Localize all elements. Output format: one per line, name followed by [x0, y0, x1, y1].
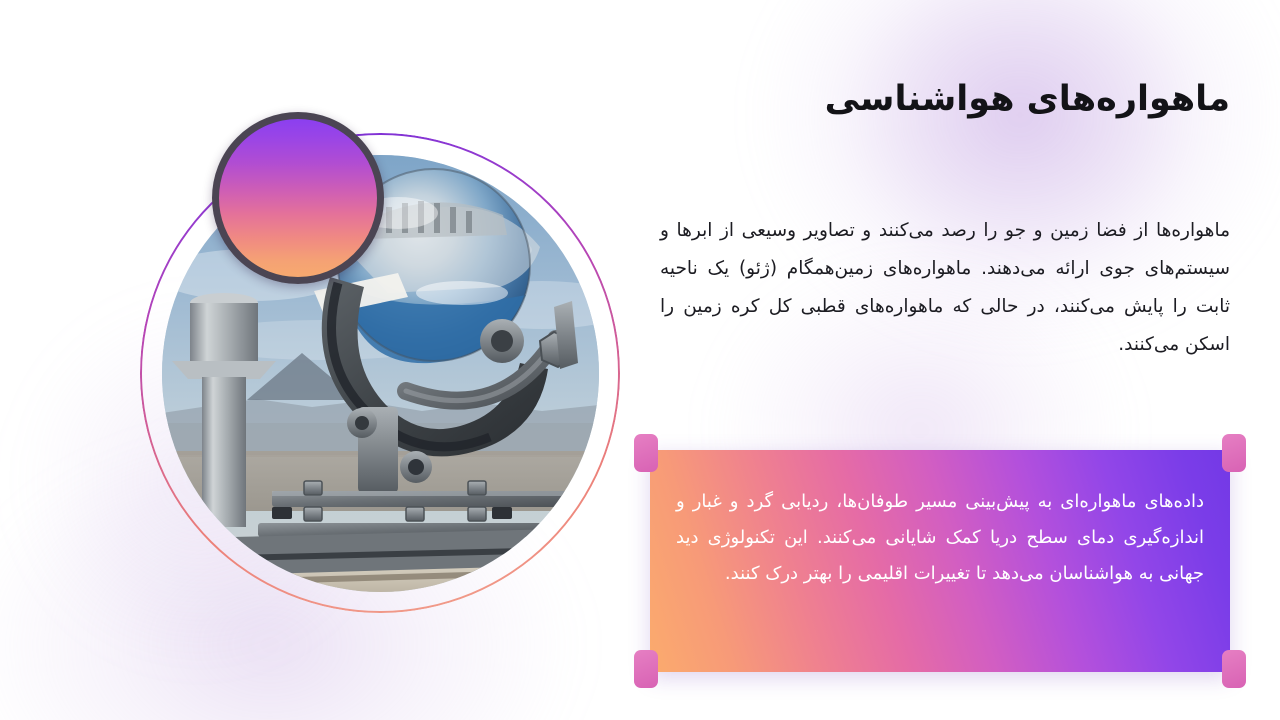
highlight-callout: داده‌های ماهواره‌ای به پیش‌بینی مسیر طوف… — [650, 450, 1230, 672]
body-paragraph: ماهواره‌ها از فضا زمین و جو را رصد می‌کن… — [660, 212, 1230, 364]
callout-text: داده‌های ماهواره‌ای به پیش‌بینی مسیر طوف… — [676, 484, 1204, 592]
gradient-badge-circle — [212, 112, 384, 284]
slide-canvas: ماهواره‌های هواشناسی ماهواره‌ها از فضا ز… — [0, 0, 1280, 720]
corner-marker-bottom-left — [634, 650, 658, 688]
corner-marker-bottom-right — [1222, 650, 1246, 688]
page-title: ماهواره‌های هواشناسی — [640, 78, 1230, 122]
corner-marker-top-left — [634, 434, 658, 472]
content-column: ماهواره‌های هواشناسی ماهواره‌ها از فضا ز… — [640, 0, 1230, 720]
corner-marker-top-right — [1222, 434, 1246, 472]
visual-cluster — [0, 0, 640, 720]
